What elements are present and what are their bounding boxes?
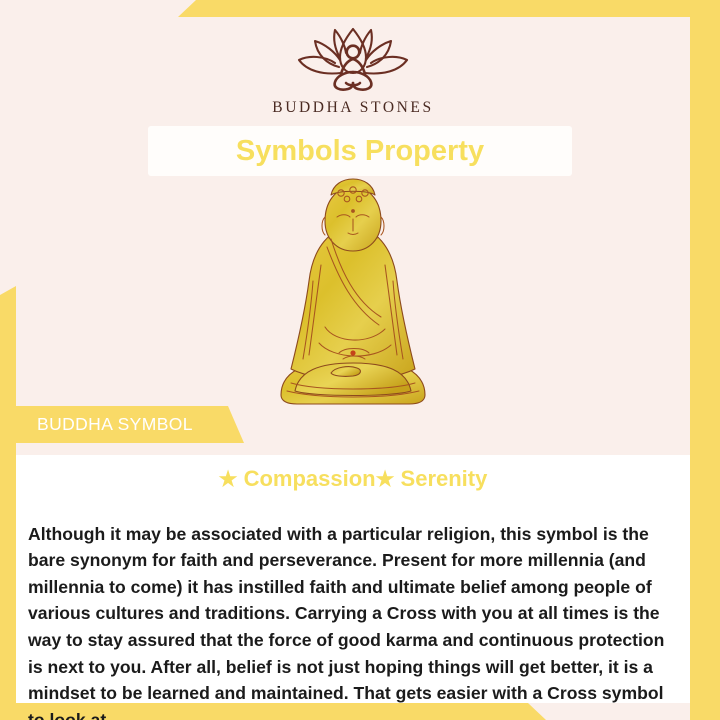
attribute-compassion: Compassion — [237, 466, 375, 491]
left-accent-strip — [0, 286, 16, 720]
brand-wordmark: BUDDHA STONES — [16, 99, 690, 117]
star-icon-middle: ★ — [376, 468, 395, 491]
description-paragraph: Although it may be associated with a par… — [28, 521, 678, 720]
attribute-serenity: Serenity — [394, 466, 487, 491]
attributes-subtitle: ★ Compassion★ Serenity — [16, 466, 690, 492]
page-title: Symbols Property — [236, 135, 484, 168]
brand-logo: BUDDHA STONES — [16, 27, 690, 117]
description-panel: ★ Compassion★ Serenity Although it may b… — [16, 455, 690, 703]
star-icon-left: ★ — [219, 468, 238, 491]
hero-panel: BUDDHA STONES Symbols Property — [16, 17, 690, 455]
hero-image — [16, 177, 690, 414]
symbol-tag-badge: BUDDHA SYMBOL — [16, 406, 244, 443]
title-plate: Symbols Property — [148, 126, 572, 176]
poster-root: BUDDHA STONES Symbols Property — [0, 0, 720, 720]
lotus-meditation-icon — [283, 27, 423, 93]
right-accent-strip — [690, 0, 720, 720]
golden-buddha-statue-icon — [269, 177, 437, 409]
symbol-tag-label: BUDDHA SYMBOL — [16, 414, 193, 435]
